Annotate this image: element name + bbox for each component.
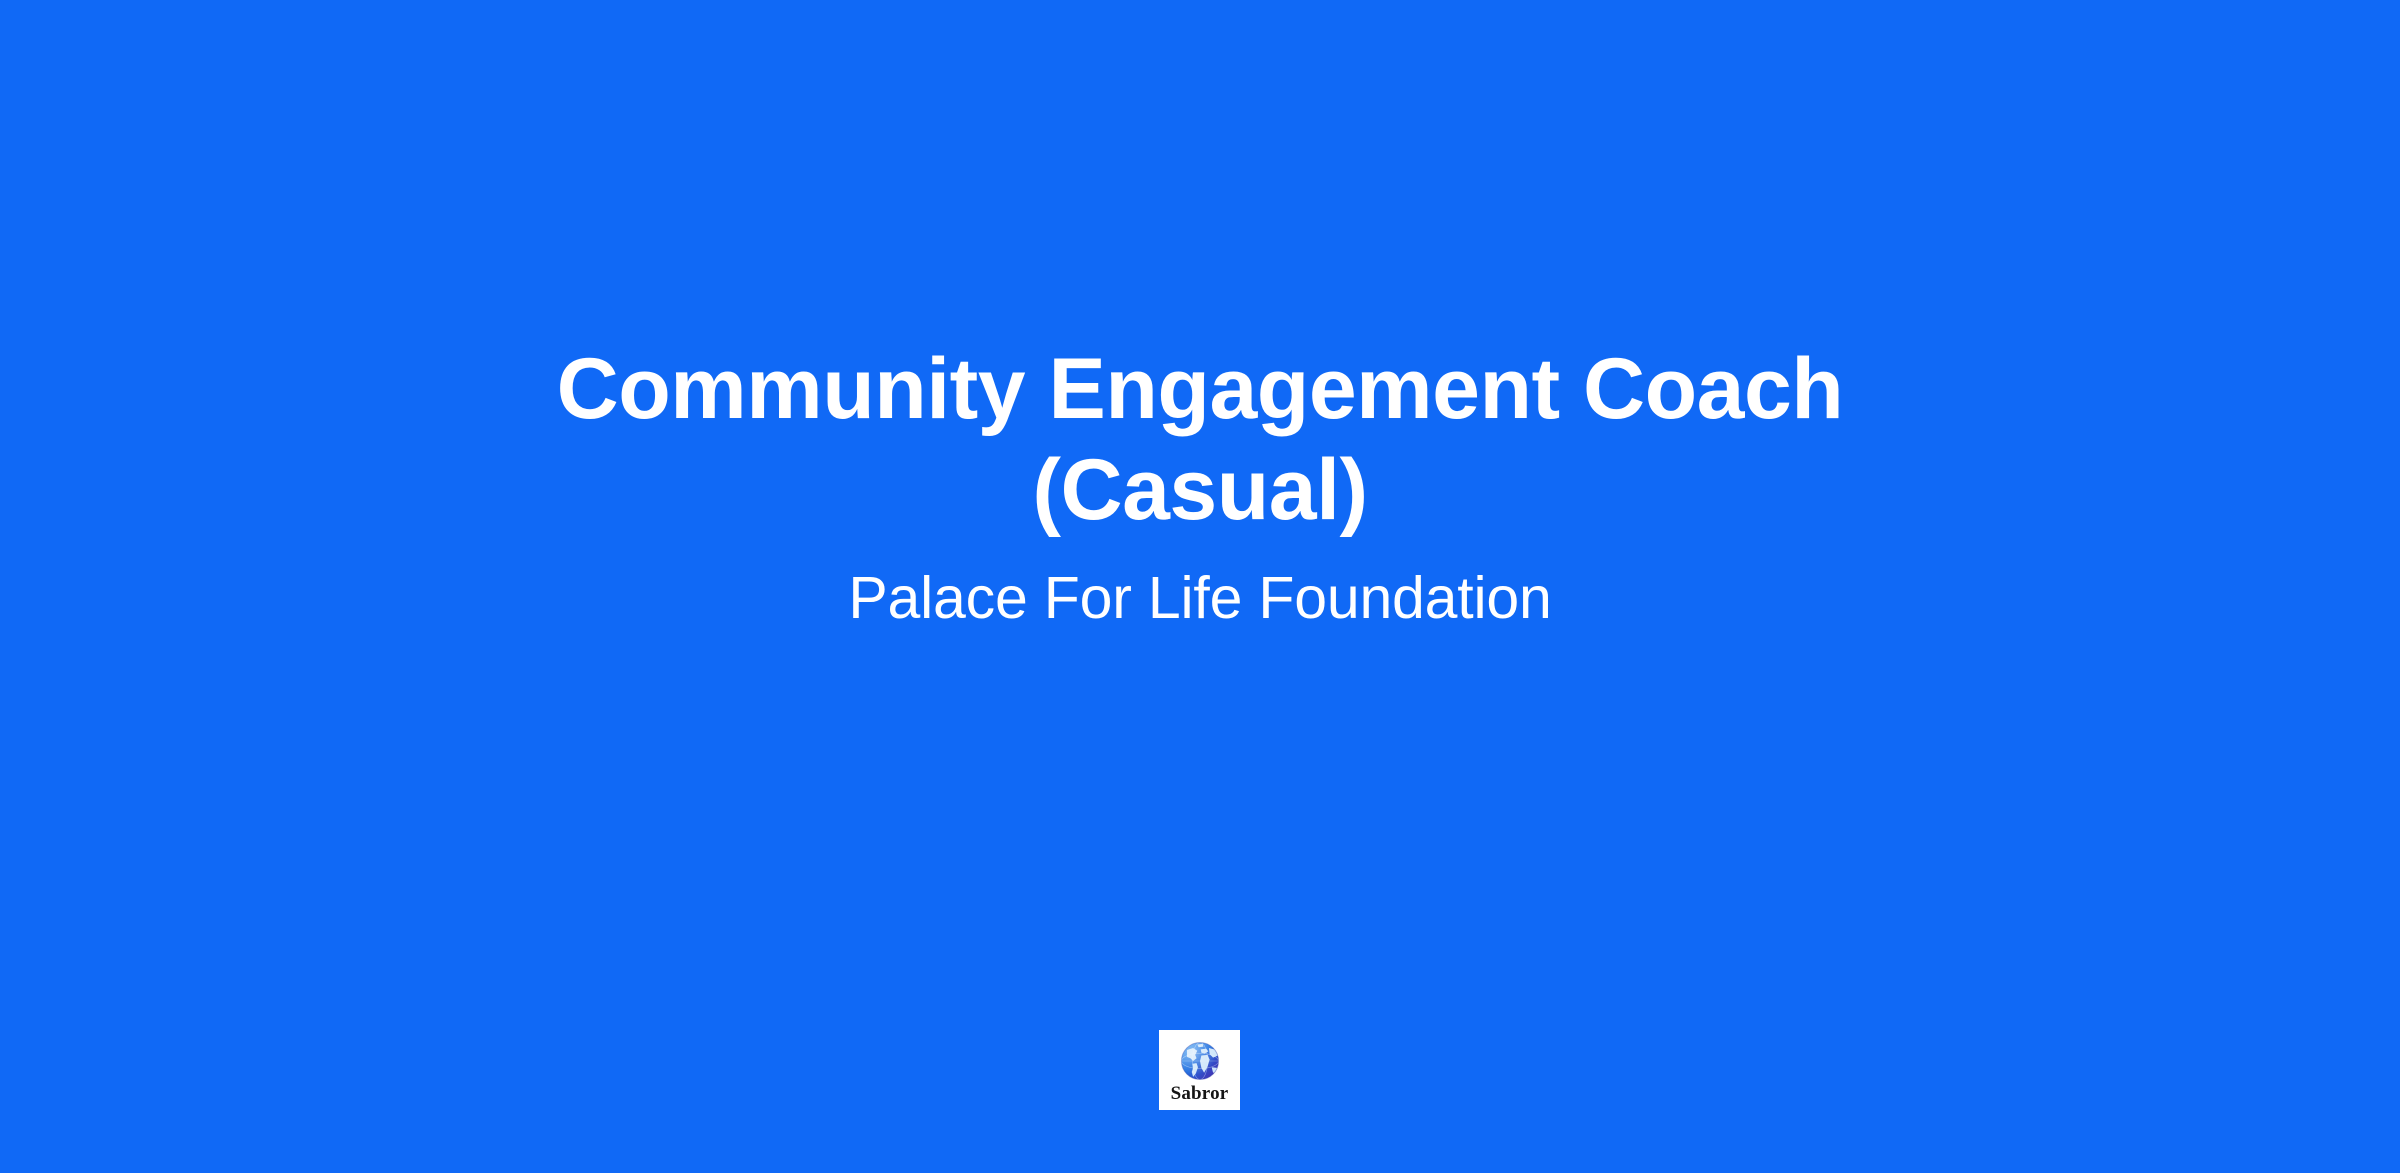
brand-logo[interactable]: Sabror: [1159, 1030, 1240, 1110]
hero-banner: Community Engagement Coach (Casual) Pala…: [0, 0, 2400, 1173]
hero-text-block: Community Engagement Coach (Casual) Pala…: [0, 0, 2400, 1173]
page-title: Community Engagement Coach (Casual): [500, 339, 1900, 540]
page-subtitle: Palace For Life Foundation: [848, 563, 1551, 634]
brand-logo-name: Sabror: [1171, 1084, 1229, 1103]
globe-icon: [1178, 1039, 1222, 1083]
